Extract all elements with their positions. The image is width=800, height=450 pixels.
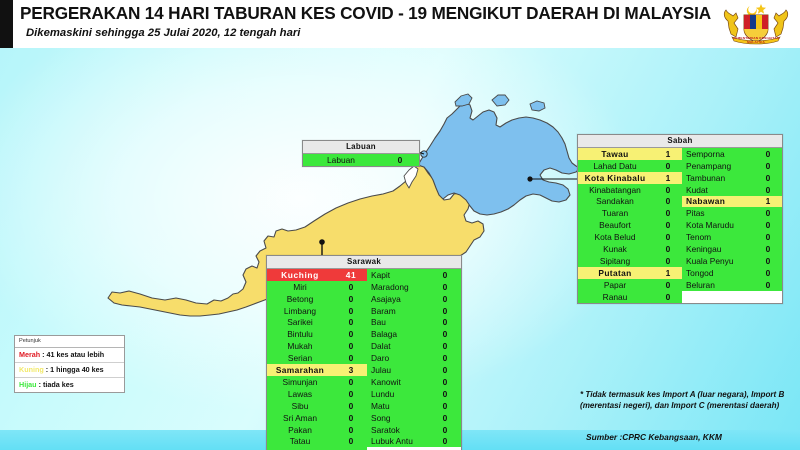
legend-row-hijau: Hijau : tiada kes (15, 378, 124, 392)
district-name: Mukah (267, 341, 335, 351)
district-name: Saratok (367, 425, 429, 435)
district-name: Serian (267, 353, 335, 363)
district-cases: 0 (381, 155, 419, 165)
table-row[interactable]: Limbang0 (267, 305, 367, 317)
district-name: Tambunan (682, 173, 754, 183)
map-islet-north-b (492, 95, 509, 106)
district-cases: 0 (335, 436, 367, 446)
district-name: Lahad Datu (578, 161, 654, 171)
table-row[interactable]: Kuching41 (267, 269, 367, 281)
district-name: Lawas (267, 389, 335, 399)
table-row[interactable]: Tawau1 (578, 148, 682, 160)
table-row[interactable]: Mukah0 (267, 340, 367, 352)
district-cases: 0 (754, 208, 782, 218)
district-name: Kapit (367, 270, 429, 280)
district-name: Semporna (682, 149, 754, 159)
legend-title: Petunjuk (15, 336, 124, 348)
table-row[interactable]: Tambunan0 (682, 172, 782, 184)
district-cases: 0 (335, 401, 367, 411)
table-body-labuan: Labuan 0 (303, 154, 419, 166)
district-cases: 0 (429, 401, 461, 411)
table-row[interactable]: Ranau0 (578, 291, 682, 303)
district-cases: 0 (335, 282, 367, 292)
district-name: Kuala Penyu (682, 256, 754, 266)
district-name: Kota Kinabalu (578, 173, 654, 183)
table-row[interactable]: Matu0 (367, 400, 461, 412)
legend-text-merah: : 41 kes atau lebih (42, 350, 104, 359)
table-row[interactable]: Betong0 (267, 293, 367, 305)
crest-caption: KEMENTERIAN KESIHATANMALAYSIA (718, 36, 794, 45)
district-cases: 0 (429, 282, 461, 292)
district-name: Balaga (367, 329, 429, 339)
district-cases: 0 (429, 317, 461, 327)
table-row[interactable]: Kunak0 (578, 243, 682, 255)
district-cases: 0 (429, 294, 461, 304)
district-name: Song (367, 413, 429, 423)
district-cases: 1 (754, 196, 782, 206)
table-row[interactable]: Sibu0 (267, 400, 367, 412)
district-cases: 0 (654, 220, 682, 230)
table-row[interactable]: Kota Belud0 (578, 231, 682, 243)
table-row[interactable]: Sipitang0 (578, 255, 682, 267)
district-cases: 0 (429, 329, 461, 339)
district-cases: 0 (335, 329, 367, 339)
district-name: Beluran (682, 280, 754, 290)
district-cases: 0 (429, 436, 461, 446)
table-row[interactable]: Pakan0 (267, 424, 367, 436)
district-name: Papar (578, 280, 654, 290)
district-name: Kunak (578, 244, 654, 254)
table-row[interactable]: Song0 (367, 412, 461, 424)
district-cases: 0 (654, 280, 682, 290)
district-name: Pitas (682, 208, 754, 218)
table-row[interactable]: Serian0 (267, 352, 367, 364)
header-bar: PERGERAKAN 14 HARI TABURAN KES COVID - 1… (0, 0, 800, 48)
table-row[interactable]: Bintulu0 (267, 328, 367, 340)
district-name: Tuaran (578, 208, 654, 218)
table-row[interactable]: Sandakan0 (578, 196, 682, 208)
district-cases: 0 (654, 161, 682, 171)
district-name: Tawau (578, 149, 654, 159)
legend-key-kuning: Kuning (19, 365, 44, 374)
district-name: Simunjan (267, 377, 335, 387)
district-name: Kudat (682, 185, 754, 195)
table-row[interactable]: Tatau0 (267, 435, 367, 447)
district-name: Sandakan (578, 196, 654, 206)
district-name: Ranau (578, 292, 654, 302)
table-row[interactable]: Kuala Penyu0 (682, 255, 782, 267)
table-row[interactable]: Keningau0 (682, 243, 782, 255)
legend-row-merah: Merah : 41 kes atau lebih (15, 348, 124, 363)
district-cases: 0 (335, 389, 367, 399)
district-cases: 0 (335, 425, 367, 435)
table-row[interactable]: Bau0 (367, 317, 461, 329)
table-row[interactable]: Samarahan3 (267, 364, 367, 376)
district-name: Bau (367, 317, 429, 327)
district-name: Kota Marudu (682, 220, 754, 230)
page-title: PERGERAKAN 14 HARI TABURAN KES COVID - 1… (20, 3, 711, 24)
district-name: Asajaya (367, 294, 429, 304)
table-column-sarawak-2: Kapit0Maradong0Asajaya0Baram0Bau0Balaga0… (367, 269, 461, 450)
district-cases: 3 (335, 365, 367, 375)
district-cases: 1 (654, 268, 682, 278)
district-name: Lundu (367, 389, 429, 399)
table-row[interactable]: Penampang0 (682, 160, 782, 172)
district-cases: 0 (429, 413, 461, 423)
table-row[interactable]: Kota Kinabalu1 (578, 172, 682, 184)
table-row[interactable]: Tongod0 (682, 267, 782, 279)
table-row[interactable]: Lahad Datu0 (578, 160, 682, 172)
table-row[interactable]: Papar0 (578, 279, 682, 291)
district-cases: 0 (335, 353, 367, 363)
district-cases: 0 (654, 196, 682, 206)
district-name: Pakan (267, 425, 335, 435)
district-name: Julau (367, 365, 429, 375)
district-name: Beaufort (578, 220, 654, 230)
table-row[interactable]: Julau0 (367, 364, 461, 376)
district-cases: 0 (335, 306, 367, 316)
district-cases: 0 (654, 208, 682, 218)
table-row[interactable]: Kapit0 (367, 269, 461, 281)
district-name: Tenom (682, 232, 754, 242)
district-cases: 0 (654, 244, 682, 254)
district-cases: 0 (754, 232, 782, 242)
table-row[interactable]: Daro0 (367, 352, 461, 364)
district-cases: 0 (654, 232, 682, 242)
table-column-sabah-2: Semporna0Penampang0Tambunan0Kudat0Nabawa… (682, 148, 782, 303)
district-name: Sri Aman (267, 413, 335, 423)
district-cases: 0 (335, 413, 367, 423)
table-sarawak: Sarawak Kuching41Miri0Betong0Limbang0Sar… (266, 255, 462, 450)
leader-dot-sarawak (319, 239, 325, 245)
district-name: Bintulu (267, 329, 335, 339)
table-title-labuan: Labuan (303, 141, 419, 154)
district-cases: 0 (754, 220, 782, 230)
table-body-sabah: Tawau1Lahad Datu0Kota Kinabalu1Kinabatan… (578, 148, 782, 303)
table-row[interactable]: Maradong0 (367, 281, 461, 293)
district-cases: 0 (429, 377, 461, 387)
district-cases: 0 (335, 341, 367, 351)
district-name: Kuching (267, 270, 335, 280)
table-row[interactable]: Beaufort0 (578, 219, 682, 231)
district-name: Lubuk Antu (367, 436, 429, 446)
district-cases: 1 (654, 149, 682, 159)
legend-text-hijau: : tiada kes (39, 380, 74, 389)
source-text: Sumber :CPRC Kebangsaan, KKM (586, 432, 796, 442)
table-labuan: Labuan Labuan 0 (302, 140, 420, 167)
district-cases: 0 (429, 425, 461, 435)
legend-row-kuning: Kuning : 1 hingga 40 kes (15, 363, 124, 378)
table-column-labuan-1: Labuan 0 (303, 154, 419, 166)
district-name: Kinabatangan (578, 185, 654, 195)
district-name: Limbang (267, 306, 335, 316)
table-row[interactable]: Tenom0 (682, 231, 782, 243)
district-cases: 0 (335, 317, 367, 327)
table-column-sabah-1: Tawau1Lahad Datu0Kota Kinabalu1Kinabatan… (578, 148, 682, 303)
district-name: Nabawan (682, 196, 754, 206)
table-row[interactable]: Sri Aman0 (267, 412, 367, 424)
table-sabah: Sabah Tawau1Lahad Datu0Kota Kinabalu1Kin… (577, 134, 783, 304)
district-name: Sipitang (578, 256, 654, 266)
leader-dot-sabah (527, 176, 532, 181)
table-row[interactable]: Kudat0 (682, 184, 782, 196)
table-row[interactable]: Lawas0 (267, 388, 367, 400)
district-name: Baram (367, 306, 429, 316)
district-cases: 0 (429, 270, 461, 280)
district-cases: 0 (429, 365, 461, 375)
legend-box: Petunjuk Merah : 41 kes atau lebih Kunin… (14, 335, 125, 393)
district-cases: 0 (754, 161, 782, 171)
table-row[interactable]: Baram0 (367, 305, 461, 317)
page-subtitle: Dikemaskini sehingga 25 Julai 2020, 12 t… (26, 27, 300, 39)
district-cases: 0 (754, 185, 782, 195)
district-cases: 0 (754, 173, 782, 183)
district-name: Samarahan (267, 365, 335, 375)
district-name: Matu (367, 401, 429, 411)
table-column-sarawak-1: Kuching41Miri0Betong0Limbang0Sarikei0Bin… (267, 269, 367, 450)
table-row[interactable]: Kanowit0 (367, 376, 461, 388)
district-name: Daro (367, 353, 429, 363)
table-title-sabah: Sabah (578, 135, 782, 148)
table-row[interactable]: Nabawan1 (682, 196, 782, 208)
district-name: Tongod (682, 268, 754, 278)
footnote-text: * Tidak termasuk kes Import A (luar nega… (580, 390, 796, 411)
table-row[interactable]: Beluran0 (682, 279, 782, 291)
district-cases: 0 (654, 292, 682, 302)
table-row[interactable]: Putatan1 (578, 267, 682, 279)
table-row-empty (682, 291, 782, 303)
district-name: Penampang (682, 161, 754, 171)
district-cases: 41 (335, 270, 367, 280)
legend-text-kuning: : 1 hingga 40 kes (46, 365, 104, 374)
district-cases: 0 (654, 185, 682, 195)
district-cases: 0 (335, 294, 367, 304)
district-cases: 0 (754, 268, 782, 278)
district-name: Tatau (267, 436, 335, 446)
district-name: Putatan (578, 268, 654, 278)
district-name: Miri (267, 282, 335, 292)
table-row[interactable]: Labuan 0 (303, 154, 419, 166)
district-name: Dalat (367, 341, 429, 351)
district-name: Labuan (303, 155, 381, 165)
district-cases: 0 (335, 377, 367, 387)
district-name: Betong (267, 294, 335, 304)
table-row[interactable]: Asajaya0 (367, 293, 461, 305)
table-row[interactable]: Tuaran0 (578, 207, 682, 219)
table-title-sarawak: Sarawak (267, 256, 461, 269)
table-row[interactable]: Lundu0 (367, 388, 461, 400)
map-islet-north-c (530, 101, 545, 111)
district-name: Kanowit (367, 377, 429, 387)
map-region-sabah (418, 103, 580, 215)
header-accent-bar (0, 0, 13, 48)
district-cases: 0 (754, 244, 782, 254)
table-row[interactable]: Balaga0 (367, 328, 461, 340)
district-cases: 0 (429, 389, 461, 399)
district-name: Sibu (267, 401, 335, 411)
district-name: Maradong (367, 282, 429, 292)
district-name: Kota Belud (578, 232, 654, 242)
district-cases: 1 (654, 173, 682, 183)
district-cases: 0 (754, 149, 782, 159)
table-row[interactable]: Sarikei0 (267, 317, 367, 329)
district-cases: 0 (754, 256, 782, 266)
table-body-sarawak: Kuching41Miri0Betong0Limbang0Sarikei0Bin… (267, 269, 461, 450)
table-row[interactable]: Simunjan0 (267, 376, 367, 388)
district-cases: 0 (654, 256, 682, 266)
table-row[interactable]: Kota Marudu0 (682, 219, 782, 231)
infographic-canvas: PERGERAKAN 14 HARI TABURAN KES COVID - 1… (0, 0, 800, 450)
district-cases: 0 (429, 306, 461, 316)
table-row[interactable]: Saratok0 (367, 424, 461, 436)
table-row[interactable]: Lubuk Antu0 (367, 435, 461, 447)
table-row[interactable]: Kinabatangan0 (578, 184, 682, 196)
district-cases: 0 (429, 341, 461, 351)
table-row[interactable]: Dalat0 (367, 340, 461, 352)
legend-key-merah: Merah (19, 350, 40, 359)
district-cases: 0 (754, 280, 782, 290)
district-name: Sarikei (267, 317, 335, 327)
legend-key-hijau: Hijau (19, 380, 37, 389)
table-row[interactable]: Pitas0 (682, 207, 782, 219)
table-row[interactable]: Semporna0 (682, 148, 782, 160)
district-cases: 0 (429, 353, 461, 363)
district-name: Keningau (682, 244, 754, 254)
table-row[interactable]: Miri0 (267, 281, 367, 293)
